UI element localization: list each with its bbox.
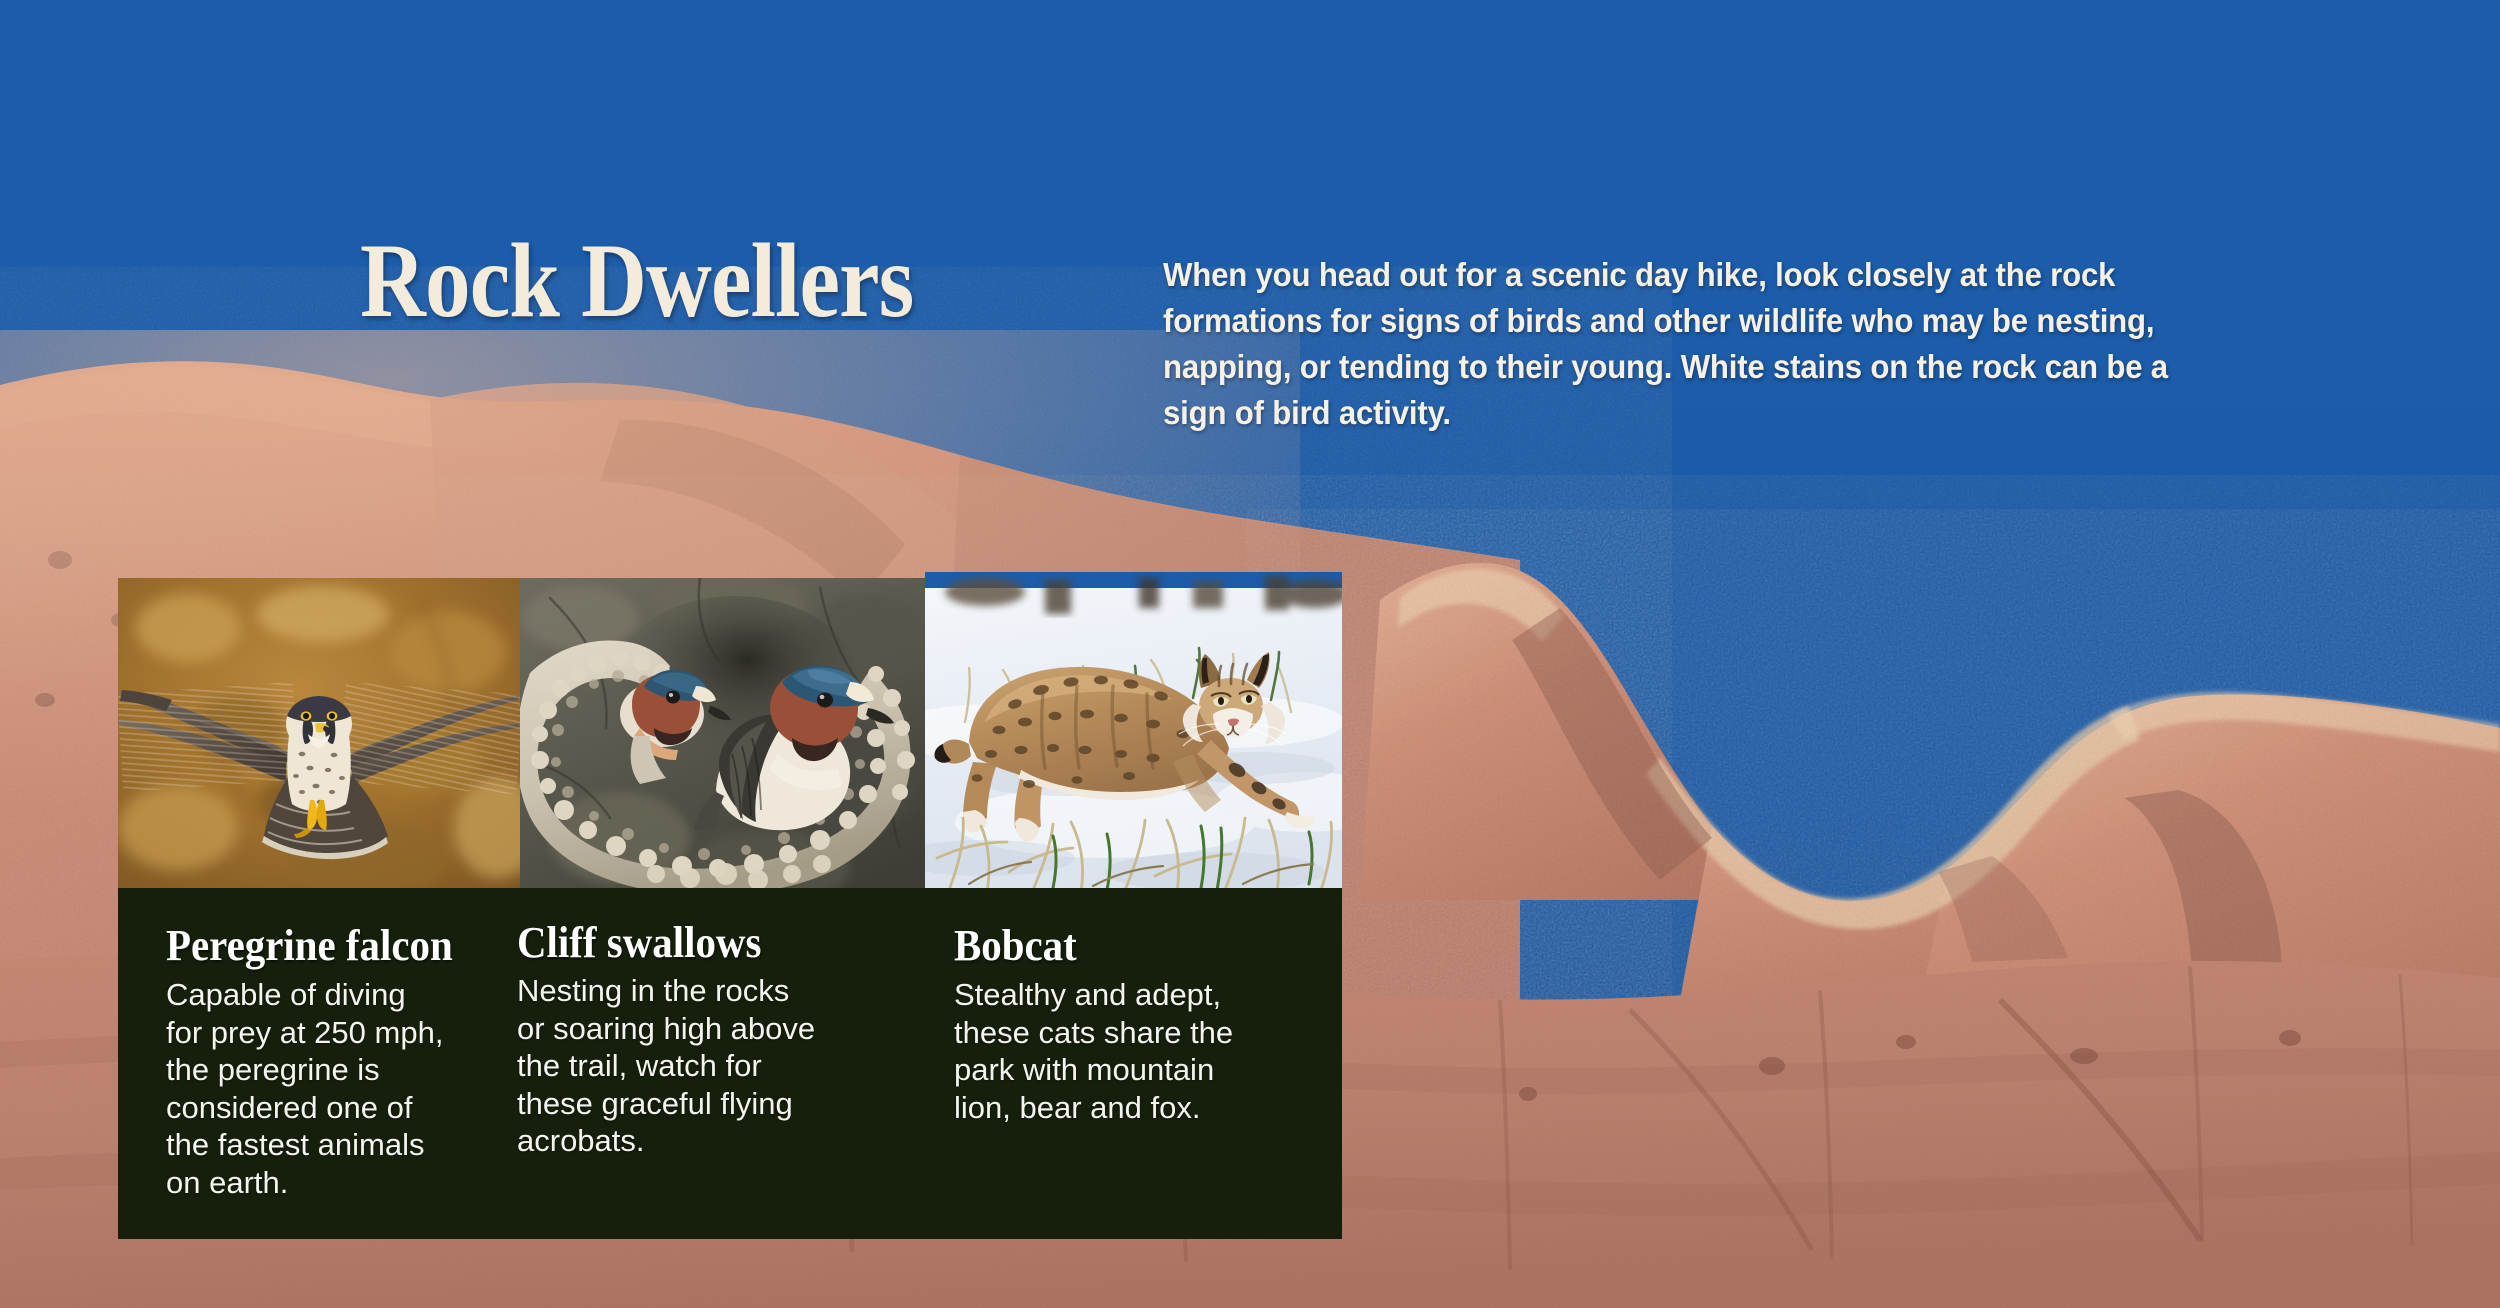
rock-dwellers-card-group: Peregrine falcon Capable of diving for p…: [118, 572, 1342, 1239]
photo-strip: [118, 572, 1342, 894]
card-peregrine-falcon: Peregrine falcon Capable of diving for p…: [118, 888, 503, 1239]
card-title-2: Bobcat: [954, 924, 1077, 968]
cliff-swallows-photo[interactable]: [520, 578, 925, 894]
bobcat-photo[interactable]: [925, 572, 1342, 894]
card-body-0: Capable of diving for prey at 250 mph, t…: [166, 976, 496, 1201]
caption-panel: Peregrine falcon Capable of diving for p…: [118, 888, 1342, 1239]
card-bobcat: Bobcat Stealthy and adept, these cats sh…: [901, 888, 1342, 1239]
card-title-1: Cliff swallows: [517, 921, 761, 965]
card-cliff-swallows: Cliff swallows Nesting in the rocks or s…: [503, 888, 901, 1239]
peregrine-falcon-photo[interactable]: [118, 578, 520, 894]
card-body-2: Stealthy and adept, these cats share the…: [954, 976, 1334, 1126]
card-title-0: Peregrine falcon: [166, 924, 453, 968]
card-body-1: Nesting in the rocks or soaring high abo…: [517, 972, 897, 1160]
